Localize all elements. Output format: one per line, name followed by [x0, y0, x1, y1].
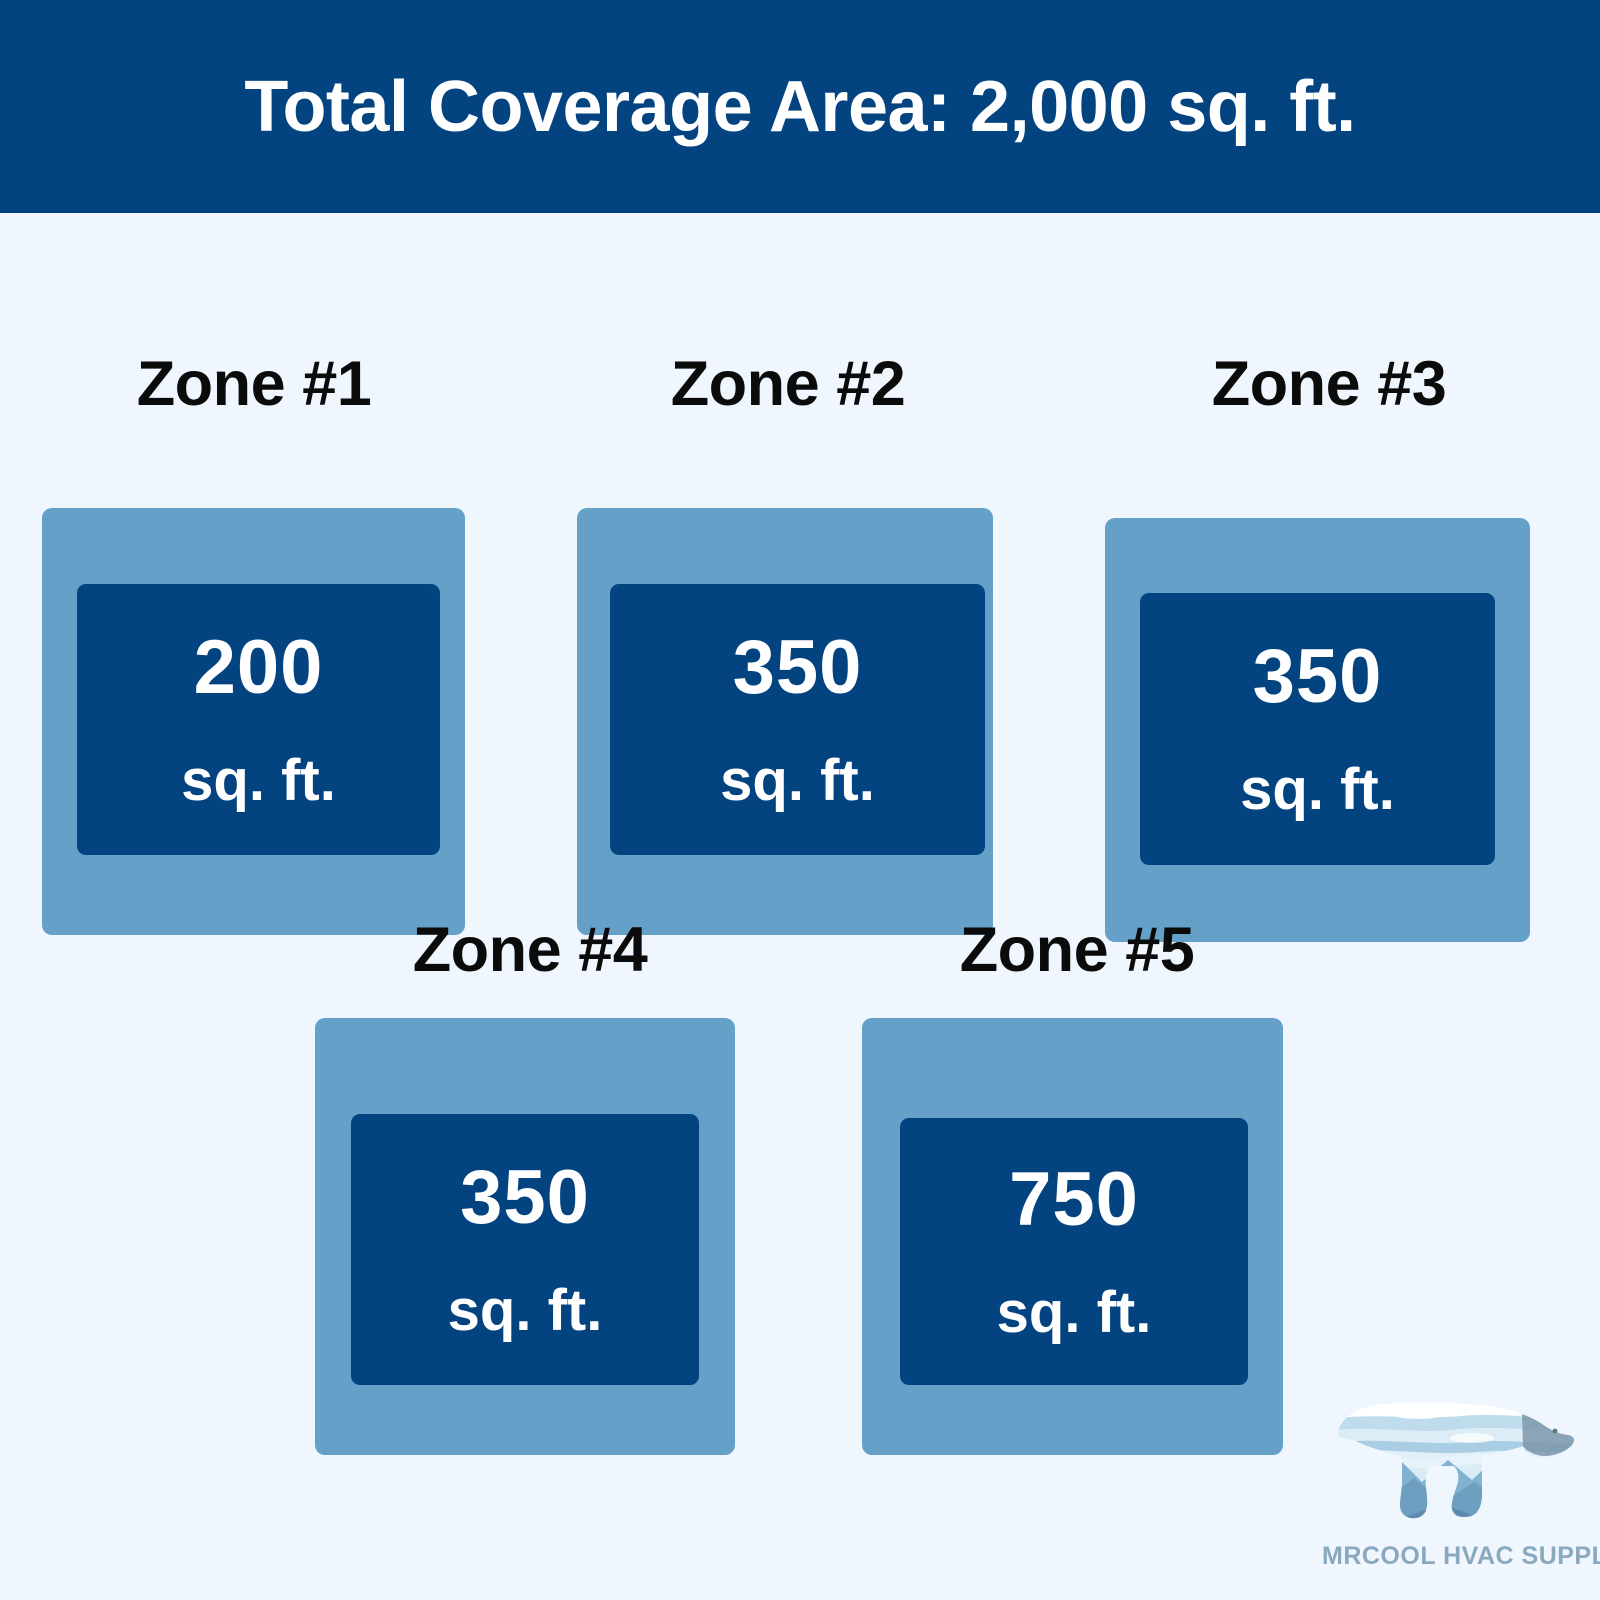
zone-label-1: Zone #1	[0, 353, 508, 416]
polar-bear-icon	[1322, 1390, 1584, 1540]
zone-block-4: Zone #4 350 sq. ft.	[270, 853, 790, 1553]
zone-value-5: 750	[1009, 1162, 1139, 1238]
zone-unit-3: sq. ft.	[1240, 761, 1395, 819]
brand-logo: MRCOOL HVAC SUPPLY	[1322, 1390, 1584, 1588]
zone-label-3: Zone #3	[1058, 353, 1600, 416]
zone-unit-4: sq. ft.	[448, 1282, 603, 1340]
zone-block-1: Zone #1 200 sq. ft.	[0, 273, 508, 953]
zone-value-box-2: 350 sq. ft.	[610, 584, 985, 855]
zone-unit-5: sq. ft.	[997, 1284, 1152, 1342]
brand-wordmark: MRCOOL HVAC SUPPLY	[1322, 1542, 1584, 1571]
zone-value-1: 200	[194, 630, 324, 706]
zone-value-box-3: 350 sq. ft.	[1140, 593, 1495, 865]
zone-value-box-1: 200 sq. ft.	[77, 584, 440, 855]
header-bar: Total Coverage Area: 2,000 sq. ft.	[0, 0, 1600, 213]
zone-value-box-5: 750 sq. ft.	[900, 1118, 1248, 1385]
zone-card-5: 750 sq. ft.	[862, 1018, 1283, 1455]
zone-value-2: 350	[733, 630, 863, 706]
zone-value-box-4: 350 sq. ft.	[351, 1114, 699, 1385]
zone-unit-2: sq. ft.	[720, 752, 875, 810]
zone-label-4: Zone #4	[270, 919, 790, 982]
zone-card-4: 350 sq. ft.	[315, 1018, 735, 1455]
zone-block-5: Zone #5 750 sq. ft.	[817, 853, 1337, 1553]
zone-label-5: Zone #5	[817, 919, 1337, 982]
zone-value-4: 350	[460, 1160, 590, 1236]
page-title: Total Coverage Area: 2,000 sq. ft.	[244, 71, 1355, 143]
zone-unit-1: sq. ft.	[181, 752, 336, 810]
zone-block-2: Zone #2 350 sq. ft.	[528, 273, 1048, 953]
zone-label-2: Zone #2	[528, 353, 1048, 416]
zone-value-3: 350	[1253, 639, 1383, 715]
